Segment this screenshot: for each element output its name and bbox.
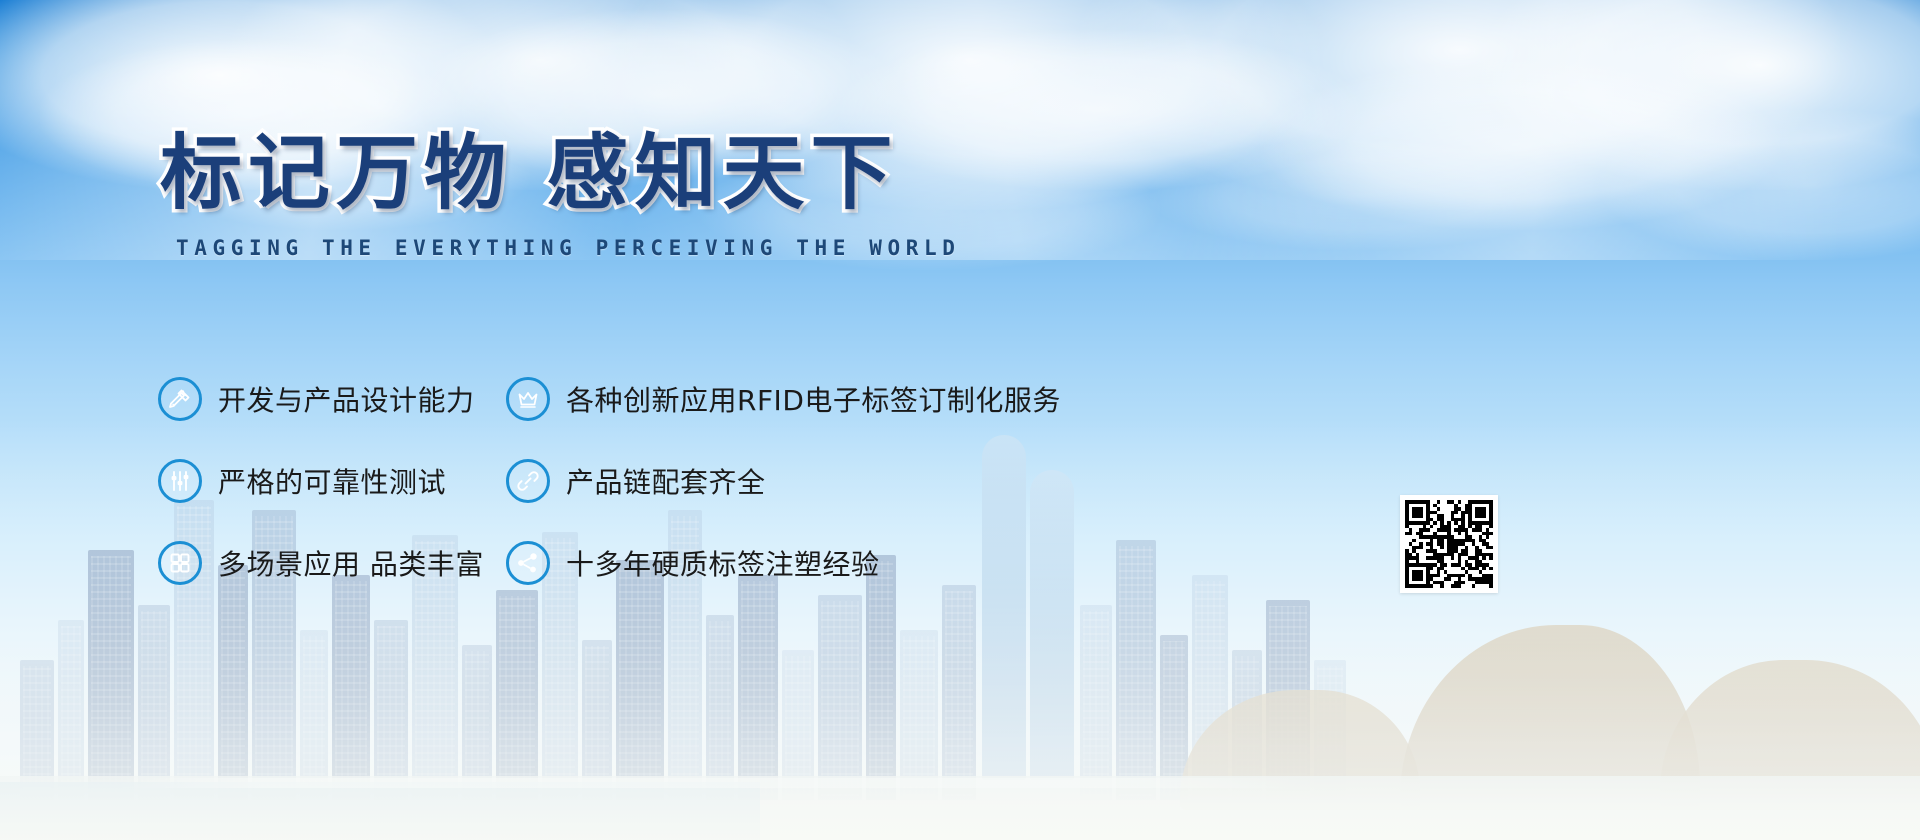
promo-banner: 标记万物 感知天下 TAGGING THE EVERYTHING PERCEIV… xyxy=(0,0,1920,840)
feature-label: 严格的可靠性测试 xyxy=(218,461,446,501)
feature-item-rfid-custom-service: 各种创新应用RFID电子标签订制化服务 xyxy=(506,377,1061,421)
feature-label: 产品链配套齐全 xyxy=(566,461,766,501)
link-chain-icon xyxy=(506,459,550,503)
qr-code-pattern xyxy=(1405,500,1493,588)
qr-code[interactable] xyxy=(1400,495,1498,593)
feature-list: 开发与产品设计能力 各种创新应用RFID电子标签订制化服务 xyxy=(158,358,1061,604)
feature-item-multi-scenario: 多场景应用 品类丰富 xyxy=(158,541,506,585)
feature-item-reliability-testing: 严格的可靠性测试 xyxy=(158,459,506,503)
share-network-icon xyxy=(506,541,550,585)
headline-block: 标记万物 感知天下 TAGGING THE EVERYTHING PERCEIV… xyxy=(160,128,960,260)
feature-label: 各种创新应用RFID电子标签订制化服务 xyxy=(566,379,1061,419)
feature-label: 十多年硬质标签注塑经验 xyxy=(566,543,880,583)
crown-icon xyxy=(506,377,550,421)
tagline: TAGGING THE EVERYTHING PERCEIVING THE WO… xyxy=(176,236,960,260)
page-title: 标记万物 感知天下 xyxy=(160,128,960,220)
feature-label: 开发与产品设计能力 xyxy=(218,379,475,419)
feature-label: 多场景应用 品类丰富 xyxy=(218,543,484,583)
sliders-icon xyxy=(158,459,202,503)
grid-squares-icon xyxy=(158,541,202,585)
ruler-pencil-icon xyxy=(158,377,202,421)
feature-item-development-design: 开发与产品设计能力 xyxy=(158,377,506,421)
feature-item-injection-molding-experience: 十多年硬质标签注塑经验 xyxy=(506,541,1061,585)
feature-item-full-product-chain: 产品链配套齐全 xyxy=(506,459,1061,503)
